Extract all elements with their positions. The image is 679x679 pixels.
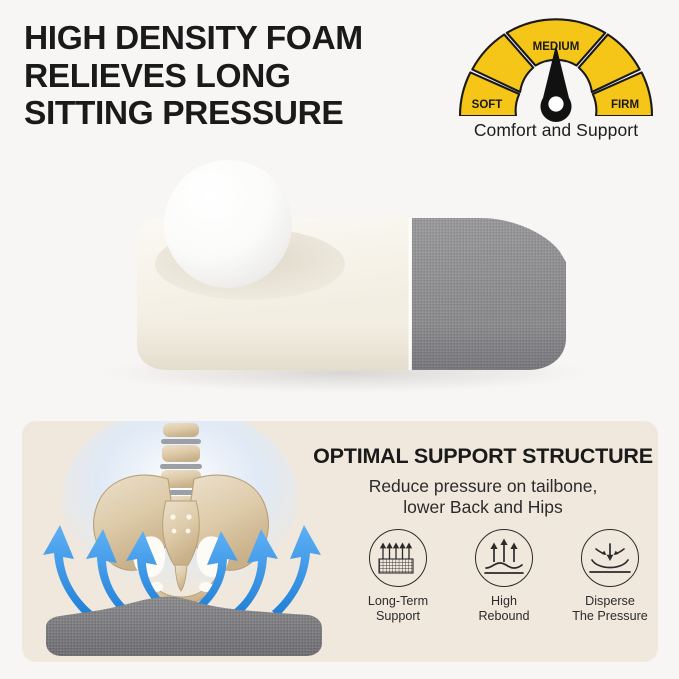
feature-disperse-pressure: Disperse The Pressure — [562, 529, 658, 625]
gauge-label-soft: SOFT — [472, 99, 503, 111]
feature-label-2-line-2: Rebound — [456, 609, 552, 624]
wave-rebound-up-arrows-icon — [476, 530, 532, 586]
fabric-top-texture — [412, 218, 566, 322]
headline-line-2: RELIEVES LONG — [24, 58, 454, 96]
gauge-label-firm: FIRM — [611, 99, 639, 111]
firmness-gauge: SOFT MEDIUM FIRM Comfort and Support — [440, 16, 672, 144]
panel-subtitle-line-1: Reduce pressure on tailbone, — [308, 476, 658, 497]
feature-circle-3 — [581, 529, 639, 587]
disperse-pressure-arrows-icon — [582, 530, 638, 586]
infographic-root: HIGH DENSITY FOAM RELIEVES LONG SITTING … — [0, 0, 679, 679]
feature-label-1: Long-Term Support — [350, 594, 446, 625]
feature-label-3: Disperse The Pressure — [562, 594, 658, 625]
feature-label-1-line-2: Support — [350, 609, 446, 624]
feature-circle-2 — [475, 529, 533, 587]
feature-high-rebound: High Rebound — [456, 529, 552, 625]
fabric-front-texture — [412, 322, 566, 370]
feature-label-2-line-1: High — [456, 594, 552, 609]
gauge-needle-hub — [548, 96, 563, 111]
headline-line-3: SITTING PRESSURE — [24, 95, 454, 133]
support-structure-panel: OPTIMAL SUPPORT STRUCTURE Reduce pressur… — [22, 421, 658, 662]
panel-title: OPTIMAL SUPPORT STRUCTURE — [308, 444, 658, 469]
panel-subtitle-line-2: lower Back and Hips — [308, 497, 658, 518]
feature-label-3-line-2: The Pressure — [562, 609, 658, 624]
page-headline: HIGH DENSITY FOAM RELIEVES LONG SITTING … — [24, 20, 454, 133]
headline-line-1: HIGH DENSITY FOAM — [24, 20, 454, 58]
feature-long-term-support: Long-Term Support — [350, 529, 446, 625]
cushion-product-illustration — [0, 140, 679, 402]
panel-text-block: OPTIMAL SUPPORT STRUCTURE Reduce pressur… — [308, 444, 658, 519]
feature-badge-list: Long-Term Support — [350, 529, 658, 625]
pressure-test-sphere — [164, 160, 292, 288]
pelvis-arrows-cushion-svg — [22, 421, 342, 662]
feature-label-1-line-1: Long-Term — [350, 594, 446, 609]
pelvis-support-illustration — [22, 421, 342, 662]
feature-label-2: High Rebound — [456, 594, 552, 625]
gauge-dial-icon: SOFT MEDIUM FIRM — [446, 16, 666, 122]
panel-subtitle: Reduce pressure on tailbone, lower Back … — [308, 476, 658, 519]
foam-front-face — [137, 320, 412, 370]
product-hero-image — [0, 140, 679, 402]
gauge-caption: Comfort and Support — [440, 120, 672, 141]
mesh-grid-up-arrows-icon — [370, 530, 426, 586]
feature-circle-1 — [369, 529, 427, 587]
feature-label-3-line-1: Disperse — [562, 594, 658, 609]
